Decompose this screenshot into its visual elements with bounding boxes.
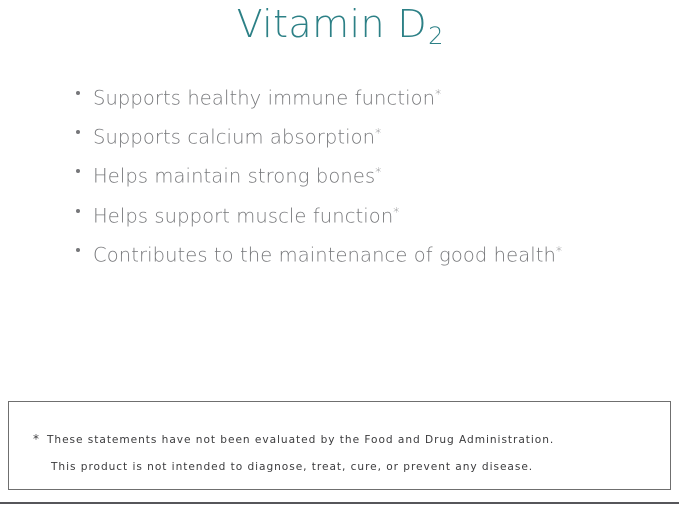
list-item: Supports healthy immune function* [72, 74, 662, 113]
page-title-area: Vitamin D2 [0, 0, 679, 62]
disclaimer-asterisk-marker: * [33, 432, 39, 446]
disclaimer-text-one: These statements have not been evaluated… [47, 434, 554, 446]
benefit-text: Contributes to the maintenance of good h… [93, 243, 556, 266]
bullet-dot-icon [76, 91, 80, 95]
page-title: Vitamin D2 [237, 2, 443, 47]
bullet-dot-icon [76, 248, 80, 252]
benefit-text: Helps maintain strong bones [93, 165, 375, 188]
footnote-marker: * [435, 87, 441, 101]
bullet-dot-icon [76, 130, 80, 134]
list-item: Supports calcium absorption* [72, 113, 662, 152]
footnote-marker: * [375, 165, 381, 179]
list-item: Contributes to the maintenance of good h… [72, 231, 662, 270]
benefit-text: Helps support muscle function [93, 204, 393, 227]
benefit-text: Supports calcium absorption [93, 126, 375, 149]
list-item: Helps maintain strong bones* [72, 152, 662, 191]
disclaimer-line-two: This product is not intended to diagnose… [51, 461, 533, 473]
bullet-dot-icon [76, 209, 80, 213]
bottom-divider [0, 502, 679, 504]
disclaimer-line-one: *These statements have not been evaluate… [33, 432, 554, 446]
product-benefits-panel: Vitamin D2 Supports healthy immune funct… [0, 0, 679, 506]
footnote-marker: * [375, 126, 381, 140]
list-item: Helps support muscle function* [72, 192, 662, 231]
page-title-text: Vitamin D [237, 2, 428, 46]
benefits-list: Supports healthy immune function* Suppor… [72, 74, 662, 270]
footnote-marker: * [393, 205, 399, 219]
disclaimer-box: *These statements have not been evaluate… [8, 401, 671, 490]
benefit-text: Supports healthy immune function [93, 87, 435, 110]
bullet-dot-icon [76, 169, 80, 173]
page-title-subscript: 2 [428, 22, 443, 50]
footnote-marker: * [556, 244, 562, 258]
